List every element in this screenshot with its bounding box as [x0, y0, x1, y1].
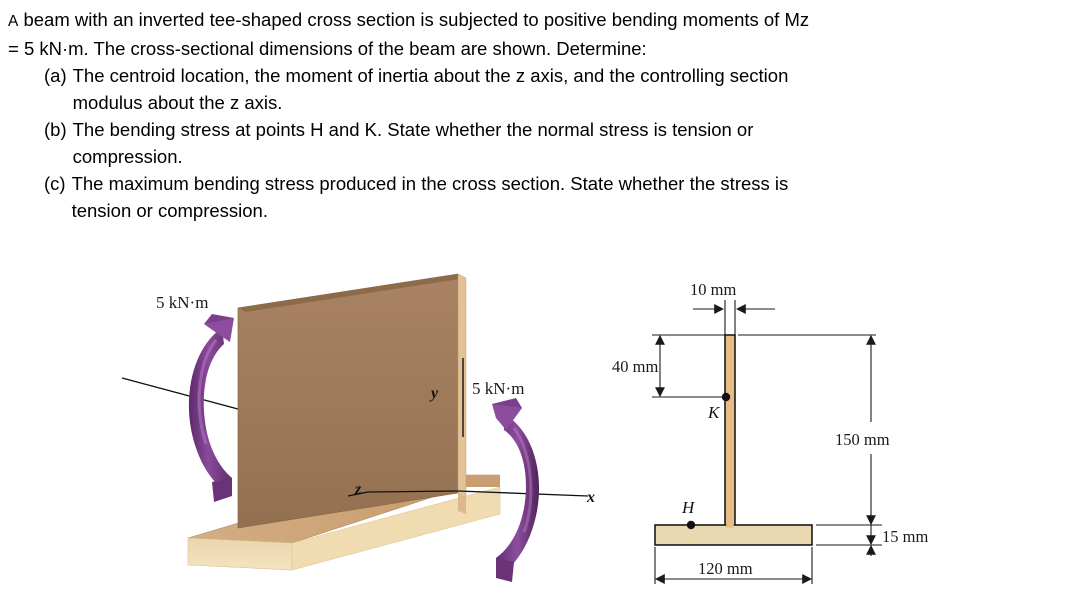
- problem-item-b-body: The bending stress at points H and K. St…: [67, 116, 754, 170]
- point-h-label: H: [681, 498, 696, 517]
- problem-intro-lead-cap: A: [8, 13, 18, 30]
- problem-item-a-line-1: The centroid location, the moment of ine…: [67, 62, 789, 89]
- problem-intro-line-1: A beam with an inverted tee-shaped cross…: [8, 6, 1060, 35]
- beam-axis-z-label: z: [354, 481, 362, 498]
- problem-item-a-body: The centroid location, the moment of ine…: [67, 62, 789, 116]
- point-h-marker: [687, 521, 695, 529]
- problem-item-c-line-2: tension or compression.: [66, 197, 789, 224]
- moment-arrow-right-body: [496, 414, 539, 578]
- cross-section-web-flange-joint: [726, 524, 734, 528]
- moment-arrow-left-tail: [212, 478, 232, 502]
- problem-item-b: (b) The bending stress at points H and K…: [0, 116, 1060, 170]
- moment-arrow-right-tail: [496, 558, 514, 582]
- problem-intro-line-1-text: beam with an inverted tee-shaped cross s…: [18, 9, 809, 30]
- problem-intro: A beam with an inverted tee-shaped cross…: [0, 0, 1060, 62]
- problem-intro-line-2: = 5 kN·m. The cross-sectional dimensions…: [8, 35, 1060, 62]
- dim-flange-width-label: 120 mm: [698, 559, 753, 578]
- beam-axis-y-label: y: [429, 385, 439, 402]
- cross-section-flange: [655, 525, 812, 545]
- dim-k-from-top-label: 40 mm: [612, 357, 658, 376]
- cross-section-web: [725, 335, 735, 525]
- figures-container: y z x 5 kN·m: [0, 262, 1068, 600]
- dim-web-thickness-label: 10 mm: [690, 280, 736, 299]
- dim-total-height-label: 150 mm: [835, 430, 890, 449]
- moment-right-label: 5 kN·m: [472, 379, 524, 398]
- moment-left-label: 5 kN·m: [156, 293, 208, 312]
- beam-axis-x-label: x: [586, 489, 595, 506]
- problem-item-c-body: The maximum bending stress produced in t…: [66, 170, 789, 224]
- problem-statement: A beam with an inverted tee-shaped cross…: [0, 0, 1060, 224]
- problem-item-a: (a) The centroid location, the moment of…: [0, 62, 1060, 116]
- problem-item-a-marker: (a): [44, 62, 67, 116]
- moment-arrow-left: [189, 314, 234, 502]
- problem-item-b-line-2: compression.: [67, 143, 754, 170]
- moment-arrow-left-body: [189, 328, 232, 496]
- problem-item-c-marker: (c): [44, 170, 66, 224]
- beam-web-face: [238, 274, 458, 528]
- beam-web-right-end-face: [458, 274, 466, 498]
- problem-item-b-marker: (b): [44, 116, 67, 170]
- problem-item-c: (c) The maximum bending stress produced …: [0, 170, 1060, 224]
- dim-flange-thickness-label: 15 mm: [882, 527, 928, 546]
- point-k-marker: [722, 393, 730, 401]
- problem-item-b-line-1: The bending stress at points H and K. St…: [67, 116, 754, 143]
- beam-3d-figure: y z x 5 kN·m: [100, 262, 620, 600]
- problem-item-a-line-2: modulus about the z axis.: [67, 89, 789, 116]
- cross-section-figure: 10 mm 40 mm 150 mm 15 mm 120 mm: [610, 262, 1068, 600]
- problem-item-c-line-1: The maximum bending stress produced in t…: [66, 170, 789, 197]
- point-k-label: K: [707, 403, 721, 422]
